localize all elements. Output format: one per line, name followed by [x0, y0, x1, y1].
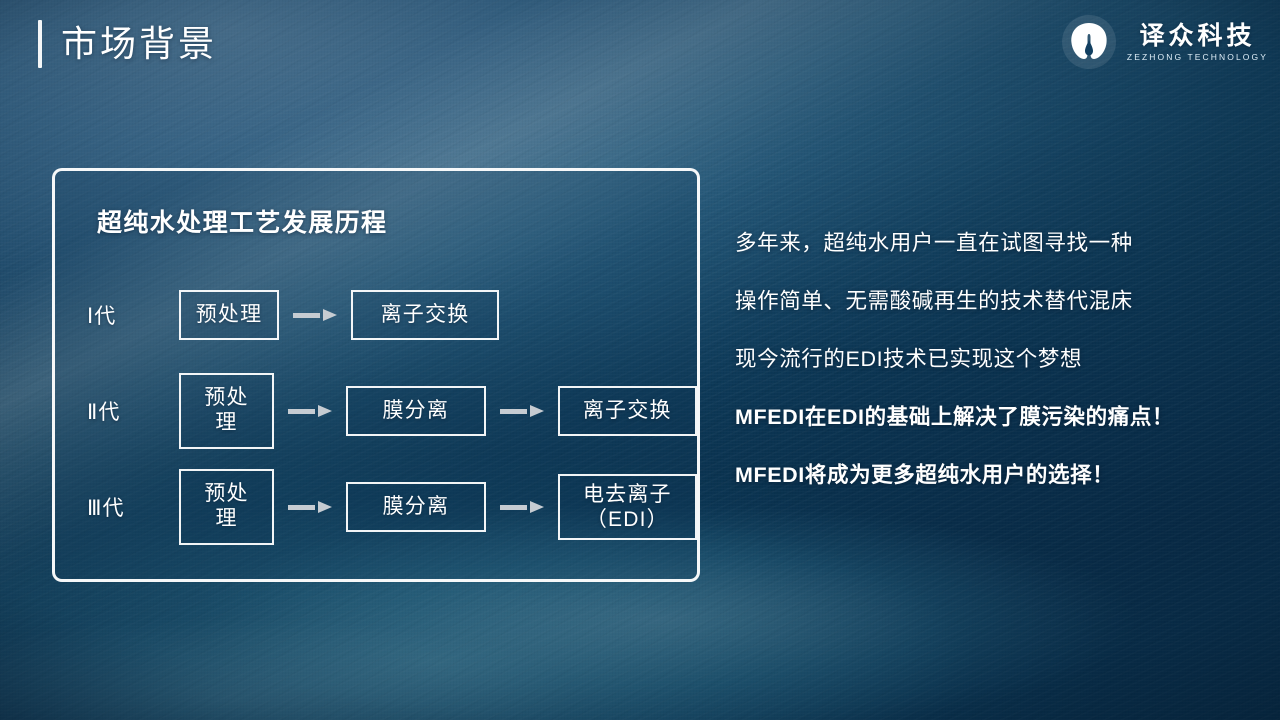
company-logo: 译众科技 ZEZHONG TECHNOLOGY	[1061, 14, 1268, 70]
process-flow-diagram: Ⅰ代 预处理 离子交换 Ⅱ代 预处理 膜分离 离子交换 Ⅲ代 预处理 膜分离 电…	[55, 267, 697, 555]
process-node: 电去离子 （EDI）	[558, 474, 697, 540]
process-node: 离子交换	[558, 386, 698, 437]
process-node: 预处理	[179, 469, 274, 545]
flow-row: Ⅰ代 预处理 离子交换	[55, 267, 697, 363]
flow-row: Ⅲ代 预处理 膜分离 电去离子 （EDI）	[55, 459, 697, 555]
note-line: 操作简单、无需酸碱再生的技术替代混床	[735, 272, 1255, 330]
arrow-right-icon	[288, 501, 332, 513]
title-accent-bar	[38, 20, 42, 68]
process-evolution-card: 超纯水处理工艺发展历程 Ⅰ代 预处理 离子交换 Ⅱ代 预处理 膜分离 离子交换 …	[52, 168, 700, 582]
notes-block: 多年来，超纯水用户一直在试图寻找一种 操作简单、无需酸碱再生的技术替代混床 现今…	[735, 214, 1255, 504]
note-line: MFEDI将成为更多超纯水用户的选择！	[735, 446, 1255, 504]
arrow-right-icon	[293, 309, 337, 321]
note-line: MFEDI在EDI的基础上解决了膜污染的痛点！	[735, 388, 1255, 446]
arrow-right-icon	[288, 405, 332, 417]
generation-label: Ⅱ代	[87, 396, 179, 426]
page-title: 市场背景	[38, 20, 217, 68]
generation-label: Ⅰ代	[87, 300, 179, 330]
note-line: 多年来，超纯水用户一直在试图寻找一种	[735, 214, 1255, 272]
slide-header: 市场背景 译众科技 ZEZHONG TECHNOLOGY	[0, 0, 1280, 96]
process-node: 预处理	[179, 290, 279, 341]
process-node: 离子交换	[351, 290, 499, 341]
card-heading: 超纯水处理工艺发展历程	[97, 203, 387, 239]
note-line: 现今流行的EDI技术已实现这个梦想	[735, 330, 1255, 388]
logo-name-en: ZEZHONG TECHNOLOGY	[1127, 51, 1268, 63]
process-node: 预处理	[179, 373, 274, 449]
process-node: 膜分离	[346, 386, 486, 437]
logo-name-cn: 译众科技	[1139, 22, 1255, 50]
arrow-right-icon	[500, 501, 544, 513]
title-text: 市场背景	[61, 20, 217, 68]
process-node: 膜分离	[346, 482, 486, 533]
water-drop-circle-icon	[1061, 14, 1117, 70]
logo-text: 译众科技 ZEZHONG TECHNOLOGY	[1127, 22, 1268, 63]
flow-row: Ⅱ代 预处理 膜分离 离子交换	[55, 363, 697, 459]
slide-canvas: 市场背景 译众科技 ZEZHONG TECHNOLOGY 超纯水处理工艺发展历程…	[0, 0, 1280, 720]
arrow-right-icon	[500, 405, 544, 417]
generation-label: Ⅲ代	[87, 492, 179, 522]
